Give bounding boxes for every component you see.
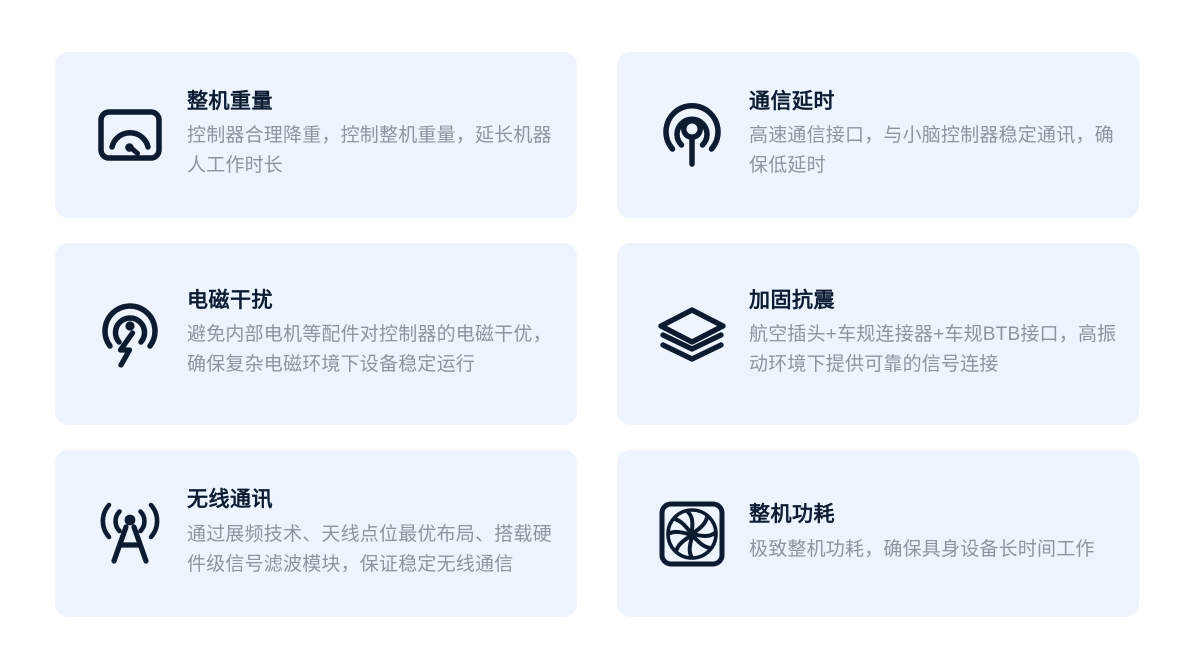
card-title: 电磁干扰 <box>187 288 559 313</box>
feature-card-wireless[interactable]: 无线通讯 通过展频技术、天线点位最优布局、搭载硬件级信号滤波模块，保证稳定无线通… <box>55 450 577 617</box>
card-text-block: 整机重量 控制器合理降重，控制整机重量，延长机器人工作时长 <box>179 89 559 181</box>
feature-card-power[interactable]: 整机功耗 极致整机功耗，确保具身设备长时间工作 <box>617 450 1139 617</box>
cooling-fan-icon <box>643 501 741 567</box>
card-description: 航空插头+车规连接器+车规BTB接口，高振动环境下提供可靠的信号连接 <box>749 320 1119 380</box>
card-text-block: 电磁干扰 避免内部电机等配件对控制器的电磁干优，确保复杂电磁环境下设备稳定运行 <box>179 288 559 380</box>
antenna-tower-icon <box>81 501 179 567</box>
card-text-block: 无线通讯 通过展频技术、天线点位最优布局、搭载硬件级信号滤波模块，保证稳定无线通… <box>179 487 559 579</box>
card-text-block: 加固抗震 航空插头+车规连接器+车规BTB接口，高振动环境下提供可靠的信号连接 <box>741 288 1121 380</box>
gauge-icon <box>81 109 179 161</box>
feature-card-emi[interactable]: 电磁干扰 避免内部电机等配件对控制器的电磁干优，确保复杂电磁环境下设备稳定运行 <box>55 243 577 425</box>
feature-card-latency[interactable]: 通信延时 高速通信接口，与小脑控制器稳定通讯，确保低延时 <box>617 52 1139 218</box>
card-description: 极致整机功耗，确保具身设备长时间工作 <box>749 535 1121 565</box>
card-title: 整机重量 <box>187 89 559 114</box>
feature-card-ruggedized[interactable]: 加固抗震 航空插头+车规连接器+车规BTB接口，高振动环境下提供可靠的信号连接 <box>617 243 1139 425</box>
card-title: 加固抗震 <box>749 288 1121 313</box>
card-description: 通过展频技术、天线点位最优布局、搭载硬件级信号滤波模块，保证稳定无线通信 <box>187 520 559 580</box>
card-description: 避免内部电机等配件对控制器的电磁干优，确保复杂电磁环境下设备稳定运行 <box>187 320 557 380</box>
broadcast-signal-icon <box>643 101 741 169</box>
feature-card-grid: 整机重量 控制器合理降重，控制整机重量，延长机器人工作时长 通信延时 高速通信接… <box>55 52 1145 617</box>
card-title: 无线通讯 <box>187 487 559 512</box>
electromagnetic-signal-icon <box>81 298 179 370</box>
card-description: 控制器合理降重，控制整机重量，延长机器人工作时长 <box>187 121 559 181</box>
card-text-block: 通信延时 高速通信接口，与小脑控制器稳定通讯，确保低延时 <box>741 89 1121 181</box>
card-title: 通信延时 <box>749 89 1121 114</box>
card-title: 整机功耗 <box>749 502 1121 527</box>
card-text-block: 整机功耗 极致整机功耗，确保具身设备长时间工作 <box>741 502 1121 564</box>
card-description: 高速通信接口，与小脑控制器稳定通讯，确保低延时 <box>749 121 1121 181</box>
feature-card-weight[interactable]: 整机重量 控制器合理降重，控制整机重量，延长机器人工作时长 <box>55 52 577 218</box>
layers-icon <box>643 305 741 363</box>
